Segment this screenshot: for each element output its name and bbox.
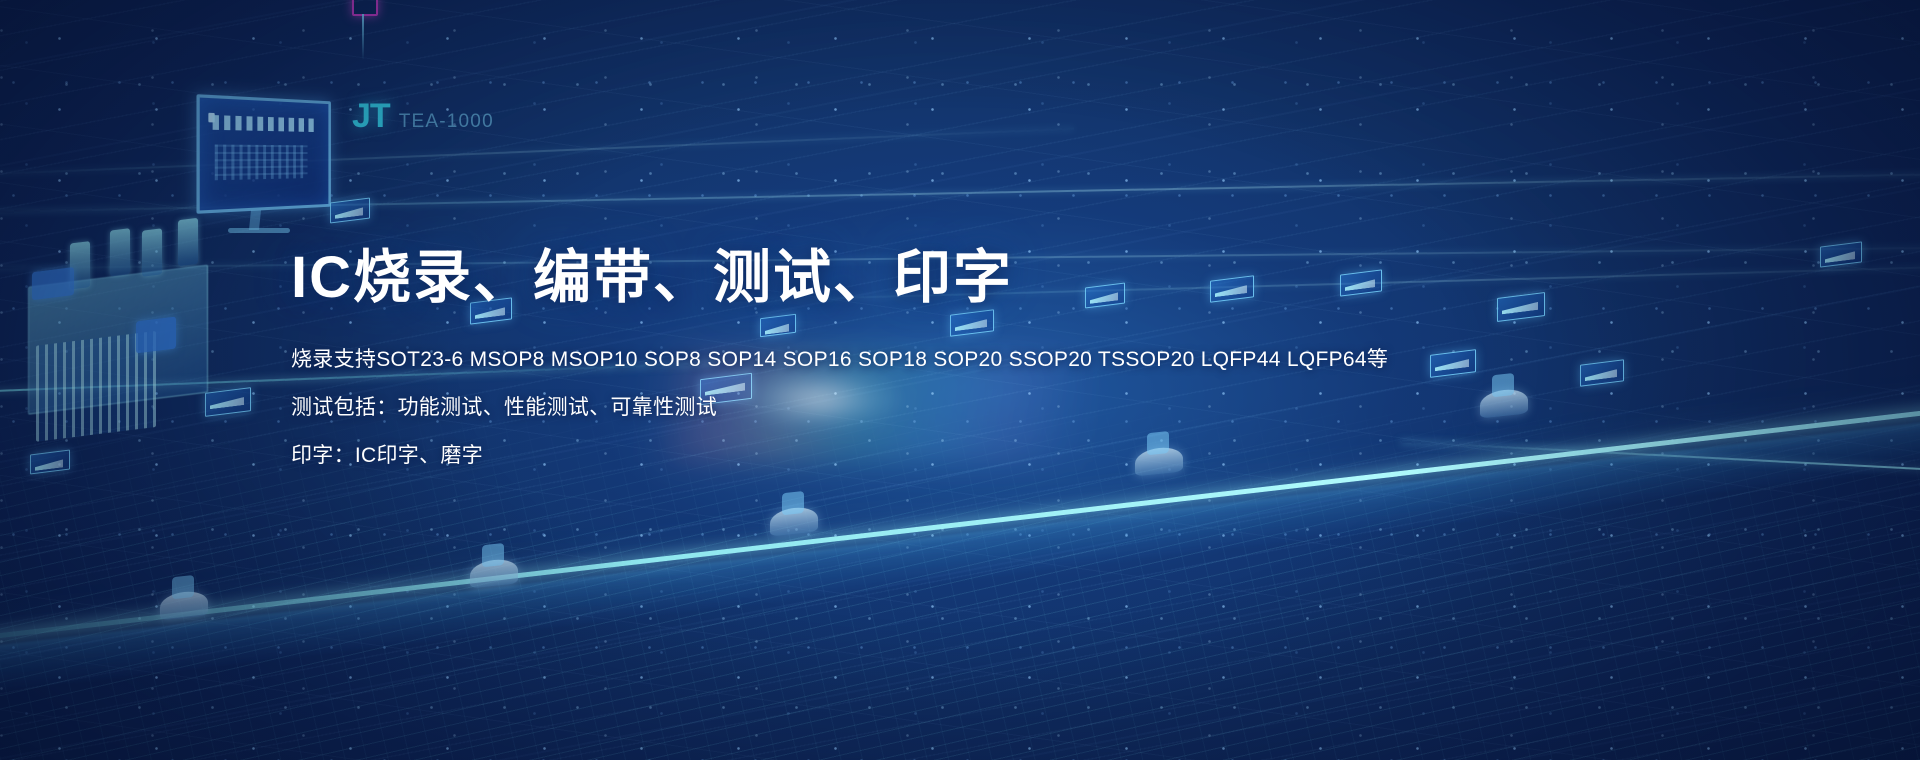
monitor-base — [228, 228, 290, 233]
robot-foot-nub — [482, 543, 504, 567]
banner-text-block: IC烧录、编带、测试、印字 烧录支持SOT23-6 MSOP8 MSOP10 S… — [291, 246, 1691, 466]
industrial-machine-illustration — [10, 215, 220, 446]
monitor-screen — [196, 94, 330, 214]
robot-foot-nub — [782, 491, 804, 515]
banner-subtext-list: 烧录支持SOT23-6 MSOP8 MSOP10 SOP8 SOP14 SOP1… — [291, 349, 1691, 466]
robot-foot-nub — [172, 575, 194, 599]
robot-foot — [770, 505, 818, 536]
magenta-marker-icon — [352, 0, 378, 16]
banner-subline-testing: 测试包括：功能测试、性能测试、可靠性测试 — [291, 397, 1691, 418]
control-monitor-illustration — [198, 98, 338, 210]
banner-subline-marking: 印字：IC印字、磨字 — [291, 445, 1691, 466]
chip-tray — [30, 450, 70, 475]
banner-subline-packages: 烧录支持SOT23-6 MSOP8 MSOP10 SOP8 SOP14 SOP1… — [291, 349, 1691, 370]
monitor-stand — [249, 210, 261, 230]
banner-headline: IC烧录、编带、测试、印字 — [291, 246, 1691, 311]
equipment-model: TEA-1000 — [399, 112, 494, 131]
brand-mark: JT — [352, 99, 390, 133]
chip-tray — [205, 387, 251, 417]
machine-module — [136, 317, 176, 354]
machine-cylinder — [142, 228, 162, 276]
equipment-logo: JT TEA-1000 — [352, 99, 494, 133]
robot-foot — [160, 589, 208, 620]
robot-foot — [470, 557, 518, 588]
chip-tray — [330, 198, 370, 224]
machine-module — [32, 267, 74, 300]
machine-cylinder — [110, 228, 130, 276]
machine-cylinder — [178, 218, 198, 266]
chip-tray — [1820, 241, 1862, 267]
monitor-ui-grid — [215, 145, 308, 181]
monitor-ui-row — [213, 115, 318, 132]
ceiling-post — [362, 14, 364, 60]
hall-beam-3 — [0, 128, 1074, 178]
hero-banner: JT TEA-1000 IC烧录、编带、测试、印字 烧录支持SOT23-6 MS… — [0, 0, 1920, 760]
